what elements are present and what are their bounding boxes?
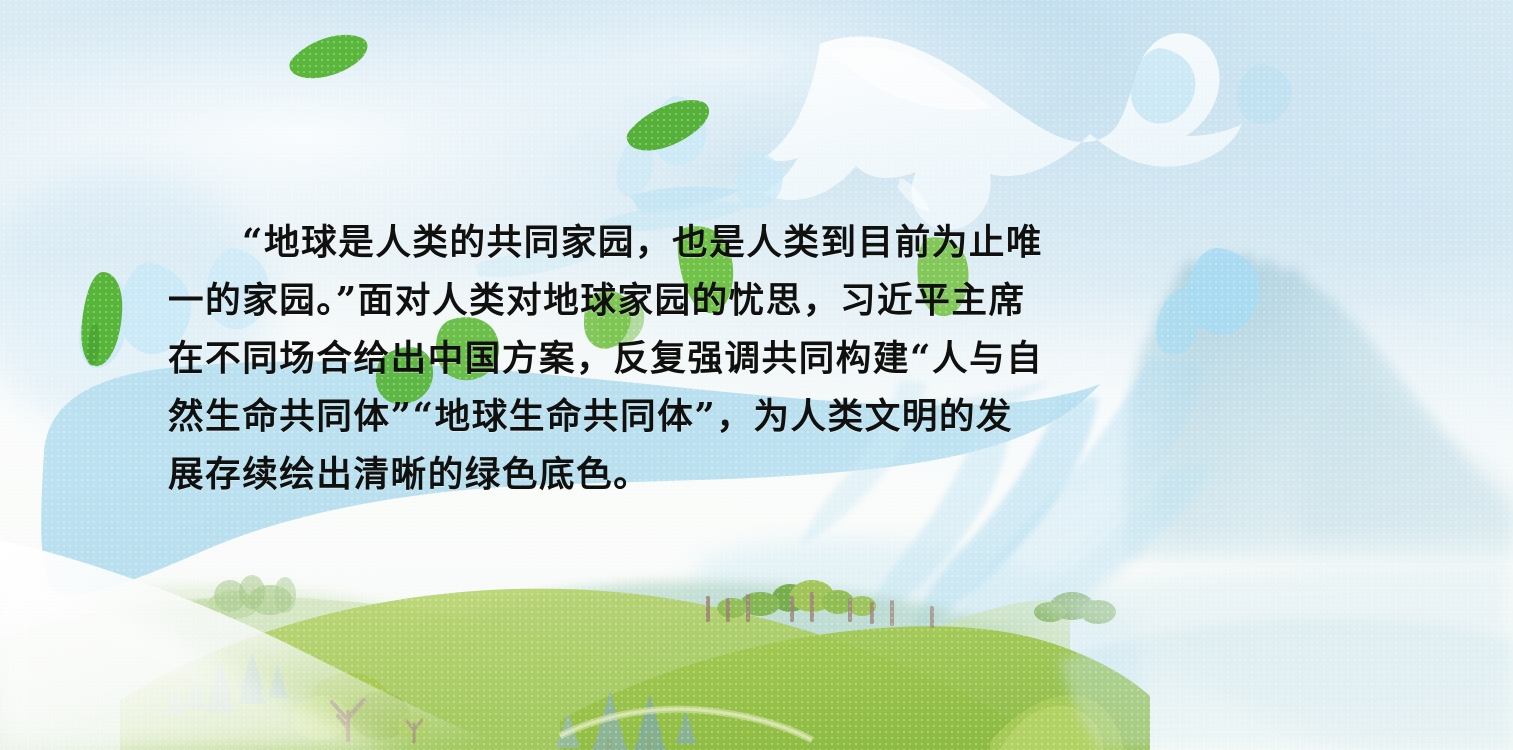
quote-line-4: 然生命共同体”“地球生命共同体”，为人类文明的发 [168, 388, 1068, 446]
droplet-mid-top [652, 96, 707, 166]
pine-trees [166, 652, 288, 714]
watercolor-mountain [1125, 250, 1513, 560]
quote-block: “地球是人类的共同家园，也是人类到目前为止唯 一的家园。”面对人类对地球家园的忧… [168, 214, 1068, 504]
hilltop-village [706, 580, 934, 628]
droplet-right-upper [1187, 248, 1259, 334]
bare-tree [292, 673, 430, 742]
droplet-right-small [1131, 48, 1196, 124]
quote-line-1: “地球是人类的共同家园，也是人类到目前为止唯 [168, 214, 1068, 272]
droplet-mid-small [735, 152, 783, 208]
quote-line-5: 展存续绘出清晰的绿色底色。 [168, 446, 1068, 504]
quote-line-2: 一的家园。”面对人类对地球家园的忧思，习近平主席 [168, 272, 1068, 330]
droplet-left-lower [79, 282, 127, 368]
foreground-pines [556, 690, 696, 750]
leaf-left-margin [81, 272, 122, 366]
leaf-upper-middle [627, 100, 709, 150]
leaf-top-left [289, 35, 367, 78]
quote-line-3: 在不同场合给出中国方案，反复强调共同构建“人与自 [168, 330, 1068, 388]
green-hills-landscape [0, 540, 1513, 750]
tree-cluster [185, 575, 296, 621]
poster-canvas: “地球是人类的共同家园，也是人类到目前为止唯 一的家园。”面对人类对地球家园的忧… [0, 0, 1513, 750]
flying-crane-silhouette [764, 33, 1242, 230]
